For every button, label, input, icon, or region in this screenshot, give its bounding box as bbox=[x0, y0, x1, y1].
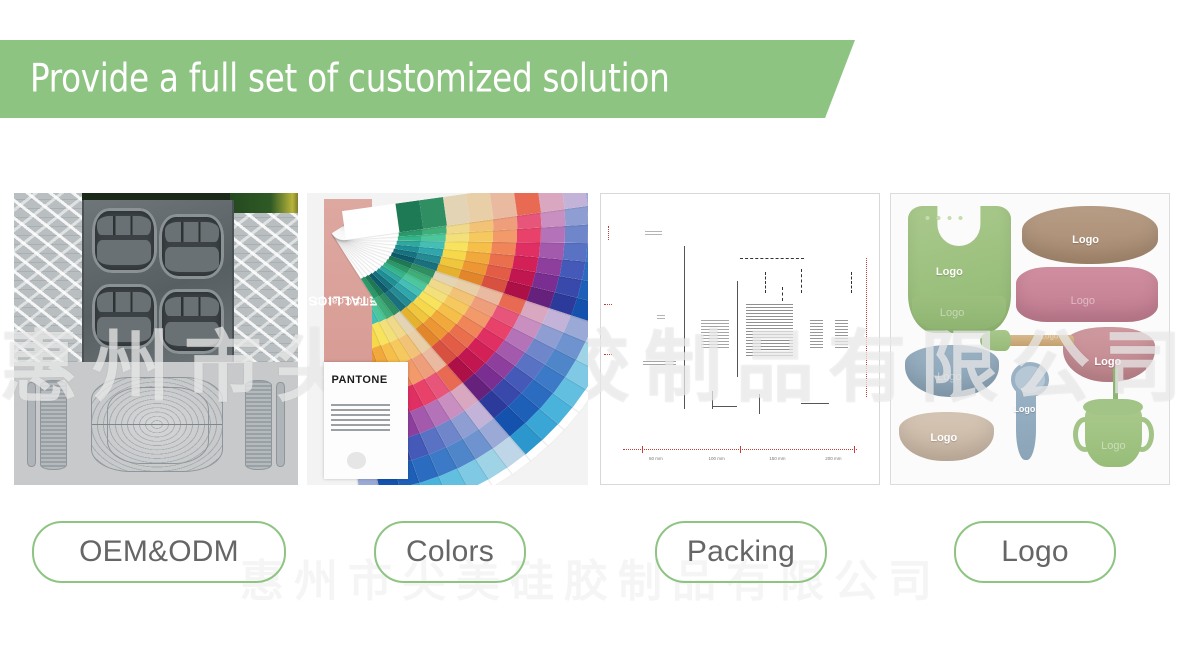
dimension-ruler: 50 mm 100 mm 150 mm 200 mm bbox=[623, 449, 857, 461]
label-oem-odm[interactable]: OEM&ODM bbox=[32, 521, 286, 583]
cut-line bbox=[851, 272, 852, 292]
suction-bowl-rose bbox=[1063, 327, 1155, 382]
color-chip bbox=[489, 193, 517, 219]
bleed-mark bbox=[604, 304, 612, 305]
panel-copy-block bbox=[746, 304, 793, 356]
logo-imprint: Logo bbox=[940, 307, 964, 319]
logo-imprint: Logo bbox=[1094, 356, 1121, 368]
checker-plate-right bbox=[230, 193, 298, 362]
cad-top-view bbox=[91, 377, 224, 472]
color-chip bbox=[395, 200, 423, 232]
color-chip bbox=[560, 193, 588, 209]
logo-imprint: Logo bbox=[936, 266, 963, 278]
ruler-label: 200 mm bbox=[825, 456, 841, 461]
bleed-mark bbox=[866, 258, 867, 397]
cad-side-view bbox=[40, 380, 68, 470]
label-packing[interactable]: Packing bbox=[655, 521, 827, 583]
logo-imprint: Logo bbox=[1013, 404, 1035, 414]
color-chip bbox=[442, 193, 470, 225]
flap-line bbox=[759, 394, 760, 414]
pantone-brand-card: PANTONE bbox=[324, 362, 408, 479]
logo-imprint: Logo bbox=[1101, 440, 1125, 452]
cup-lid bbox=[1083, 399, 1143, 416]
panel-oem-odm-image[interactable] bbox=[14, 193, 298, 485]
bleed-mark bbox=[604, 354, 612, 355]
label-row: OEM&ODM Colors Packing Logo bbox=[0, 521, 1182, 583]
ruler-label: 50 mm bbox=[649, 456, 663, 461]
panel-copy-block bbox=[701, 319, 729, 348]
ruler-label: 100 mm bbox=[709, 456, 725, 461]
panel-logo-image[interactable]: Logo Logo Logo Logo Logo Logo Logo Logo … bbox=[890, 193, 1170, 485]
ruler-tick bbox=[740, 446, 741, 453]
color-chip bbox=[513, 193, 541, 215]
divided-plate-pink bbox=[1016, 267, 1158, 322]
ruler-label: 150 mm bbox=[769, 456, 785, 461]
bib-snap-buttons bbox=[922, 213, 963, 223]
pantone-wordmark: PANTONE bbox=[331, 374, 387, 386]
mold-cavity bbox=[159, 289, 224, 354]
page-title: Provide a full set of customized solutio… bbox=[30, 57, 669, 102]
ruler-tick bbox=[854, 446, 855, 453]
background-machine-strip bbox=[230, 193, 298, 213]
pantone-fandeck: METALLICS Solid Coated PANTONE bbox=[307, 193, 588, 485]
cad-side-profile bbox=[276, 382, 285, 467]
sippy-cup bbox=[1072, 391, 1155, 466]
barcode-block bbox=[810, 319, 824, 348]
label-colors[interactable]: Colors bbox=[374, 521, 526, 583]
bib-neck-opening bbox=[938, 203, 981, 246]
cut-line bbox=[782, 287, 783, 302]
cad-side-view bbox=[245, 380, 273, 470]
header-banner: Provide a full set of customized solutio… bbox=[0, 40, 855, 118]
panel-colors-image[interactable]: METALLICS Solid Coated PANTONE bbox=[307, 193, 588, 485]
fold-line bbox=[684, 246, 685, 408]
color-chip bbox=[419, 197, 447, 229]
cup-straw bbox=[1113, 367, 1119, 403]
mold-cavity bbox=[92, 284, 157, 349]
spoon-head bbox=[980, 330, 1011, 350]
ruler-tick bbox=[642, 446, 643, 453]
cut-line bbox=[765, 272, 766, 292]
bleed-mark bbox=[608, 226, 609, 241]
logo-imprint: Logo bbox=[1071, 295, 1095, 307]
panel-packing-image[interactable]: 50 mm 100 mm 150 mm 200 mm bbox=[600, 193, 880, 485]
pantone-card-thumb-notch bbox=[347, 452, 366, 468]
barcode-block bbox=[835, 319, 849, 348]
logo-imprint: Logo bbox=[1041, 332, 1059, 341]
flap-line bbox=[801, 403, 829, 404]
perforation-line bbox=[740, 258, 804, 259]
fold-line bbox=[737, 281, 738, 377]
color-chip bbox=[536, 193, 564, 212]
product-photo-set: Logo Logo Logo Logo Logo Logo Logo Logo … bbox=[891, 194, 1169, 484]
cad-drawing bbox=[14, 362, 298, 485]
dimension-note bbox=[657, 313, 665, 319]
flap-line bbox=[712, 406, 737, 407]
label-logo[interactable]: Logo bbox=[954, 521, 1116, 583]
cut-line bbox=[801, 269, 802, 292]
color-chip bbox=[466, 193, 494, 222]
logo-imprint: Logo bbox=[930, 432, 957, 444]
logo-imprint: Logo bbox=[1072, 234, 1099, 246]
dimension-note bbox=[645, 229, 662, 235]
checker-plate-left bbox=[14, 193, 82, 362]
dimension-note bbox=[643, 359, 676, 365]
logo-imprint: Logo bbox=[937, 371, 961, 383]
teether-ring bbox=[1011, 362, 1049, 397]
mold-cavity bbox=[159, 214, 224, 279]
mold-cavity bbox=[92, 208, 157, 273]
mold-photo bbox=[14, 193, 298, 362]
packaging-dieline: 50 mm 100 mm 150 mm 200 mm bbox=[601, 194, 879, 484]
pantone-card-text-lines bbox=[331, 401, 390, 431]
mold-body bbox=[82, 200, 234, 363]
panel-row: METALLICS Solid Coated PANTONE 50 mm 100… bbox=[0, 193, 1182, 485]
cad-side-profile bbox=[27, 382, 36, 467]
